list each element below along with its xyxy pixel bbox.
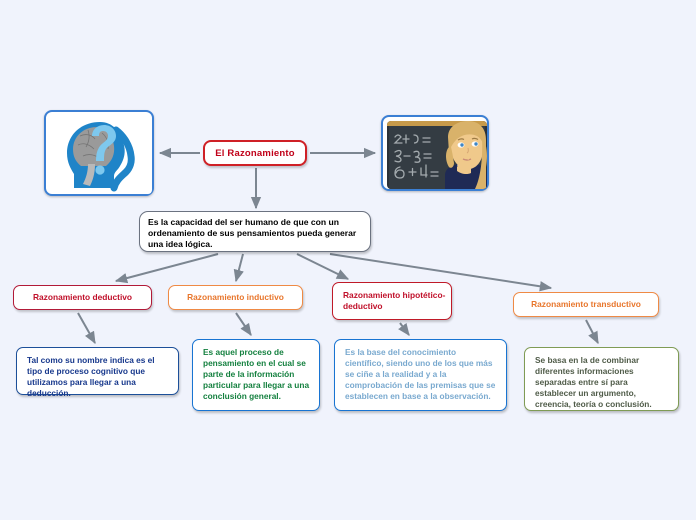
definition-label: Es la capacidad del ser humano de que co…	[148, 217, 362, 251]
thinking-head-brain-illustration	[44, 110, 154, 196]
connector-definition-to-deductivo	[116, 254, 218, 281]
connector-layer	[0, 0, 696, 520]
definition-node[interactable]: Es la capacidad del ser humano de que co…	[139, 211, 371, 252]
detail-node-inductivo[interactable]: Es aquel proceso de pensamiento en el cu…	[192, 339, 320, 411]
category-node-hipotetico-deductivo[interactable]: Razonamiento hipotético-deductivo	[332, 282, 452, 320]
brain-head-graphic	[50, 116, 152, 194]
central-topic-label: El Razonamiento	[215, 148, 295, 159]
detail-node-hipotetico-deductivo[interactable]: Es la base del conocimiento científico, …	[334, 339, 507, 411]
girl-figure	[445, 121, 487, 189]
detail-node-transductivo[interactable]: Se basa en la de combinar diferentes inf…	[524, 347, 679, 411]
category-label-inductivo: Razonamiento inductivo	[187, 292, 284, 303]
category-node-inductivo[interactable]: Razonamiento inductivo	[168, 285, 303, 310]
connector-deductivo-to-detail	[78, 313, 95, 343]
connector-inductivo-to-detail	[236, 313, 251, 335]
mindmap-canvas: El Razonamiento Es la capacidad del ser …	[0, 0, 696, 520]
detail-label-inductivo: Es aquel proceso de pensamiento en el cu…	[203, 347, 310, 403]
central-topic-node[interactable]: El Razonamiento	[203, 140, 307, 166]
connector-definition-to-inductivo	[236, 254, 243, 281]
chalkboard-photo-graphic	[387, 121, 487, 189]
category-node-transductivo[interactable]: Razonamiento transductivo	[513, 292, 659, 317]
connector-definition-to-hipotetico	[297, 254, 348, 279]
detail-label-hipotetico-deductivo: Es la base del conocimiento científico, …	[345, 347, 497, 403]
detail-label-transductivo: Se basa en la de combinar diferentes inf…	[535, 355, 669, 411]
category-label-deductivo: Razonamiento deductivo	[33, 292, 132, 303]
detail-node-deductivo[interactable]: Tal como su nombre indica es el tipo de …	[16, 347, 179, 395]
category-label-transductivo: Razonamiento transductivo	[531, 299, 641, 310]
girl-thinking-chalkboard-photo	[381, 115, 489, 191]
connector-transductivo-to-detail	[586, 320, 598, 343]
category-label-hipotetico-deductivo: Razonamiento hipotético-deductivo	[343, 290, 451, 312]
detail-label-deductivo: Tal como su nombre indica es el tipo de …	[27, 355, 169, 399]
connector-hipotetico-to-detail	[400, 323, 409, 335]
category-node-deductivo[interactable]: Razonamiento deductivo	[13, 285, 152, 310]
